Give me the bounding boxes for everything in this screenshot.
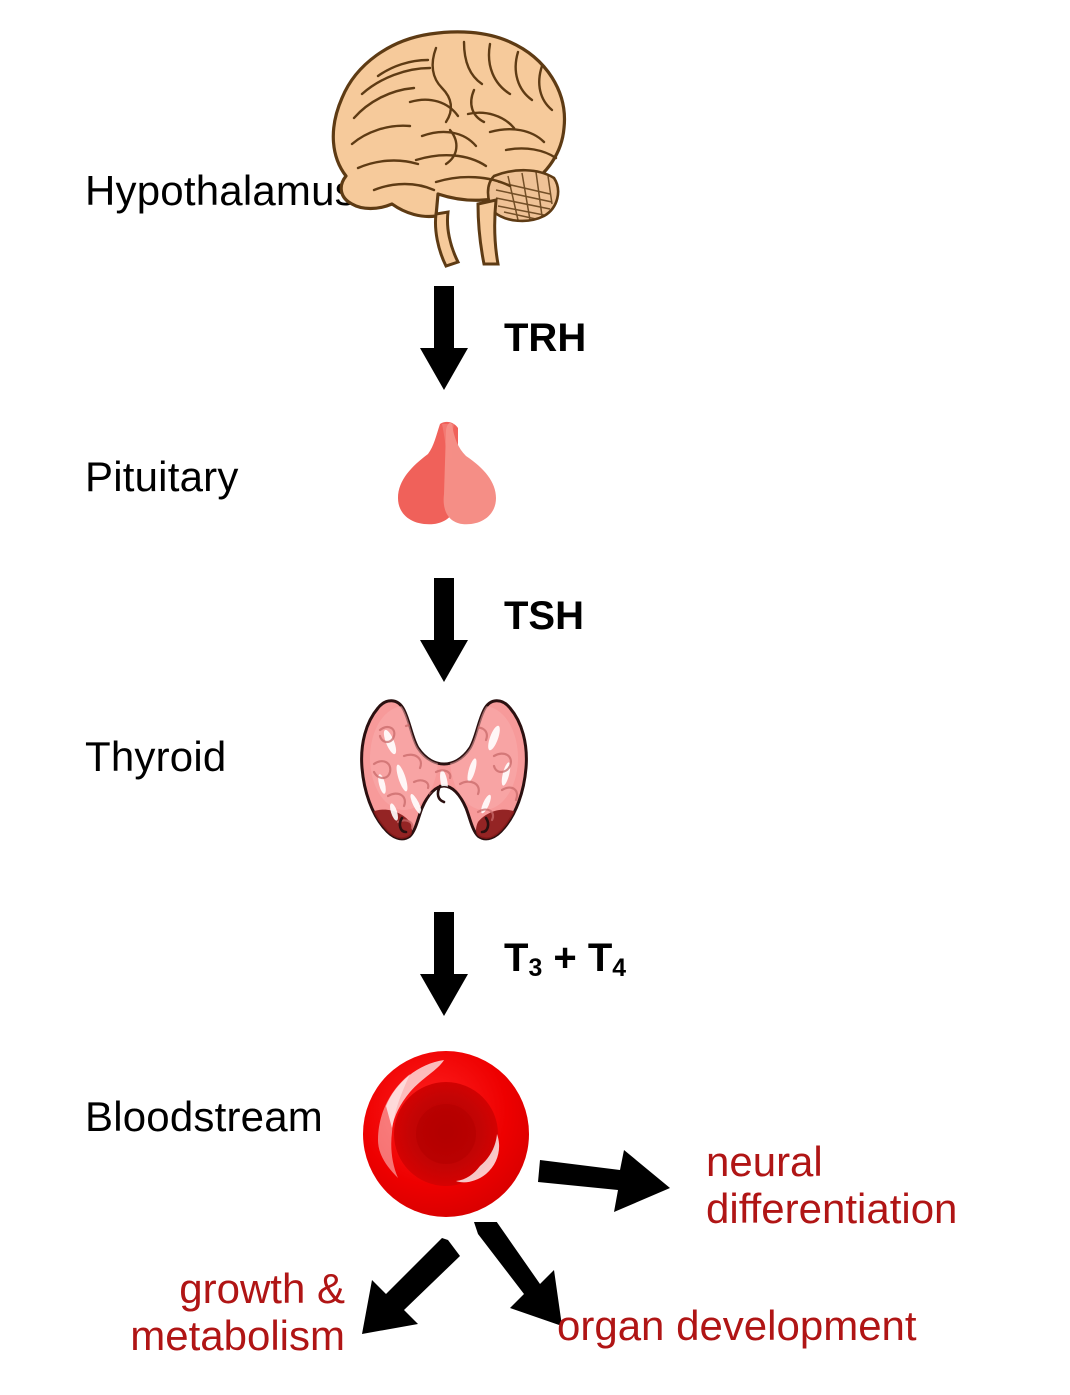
brain-icon — [318, 18, 586, 280]
outcome-label-organ-development: organ development — [557, 1302, 917, 1349]
arrow-right-icon — [538, 1140, 674, 1226]
signal-t3: T3 — [504, 936, 542, 980]
signal-t4: T4 — [588, 936, 626, 980]
stage-label-hypothalamus: Hypothalamus — [85, 170, 356, 212]
arrow-down-icon — [416, 912, 472, 1018]
stage-label-pituitary: Pituitary — [85, 456, 239, 498]
signal-plus: + — [542, 936, 588, 980]
signal-label-tsh: TSH — [504, 596, 584, 636]
blood-cell-icon — [360, 1048, 532, 1220]
arrow-down-left-icon — [352, 1232, 464, 1340]
outcome-label-neural-differentiation: neural differentiation — [706, 1138, 957, 1232]
pituitary-icon — [392, 418, 508, 530]
arrow-down-icon — [416, 578, 472, 684]
signal-label-t3-t4: T3 + T4 — [504, 938, 626, 978]
arrow-down-icon — [416, 286, 472, 392]
stage-label-thyroid: Thyroid — [85, 736, 226, 778]
stage-label-bloodstream: Bloodstream — [85, 1096, 323, 1138]
diagram-canvas: Hypothalamus — [0, 0, 1070, 1395]
signal-label-trh: TRH — [504, 318, 586, 358]
thyroid-icon — [344, 686, 544, 866]
outcome-label-growth-metabolism: growth & metabolism — [0, 1265, 345, 1359]
